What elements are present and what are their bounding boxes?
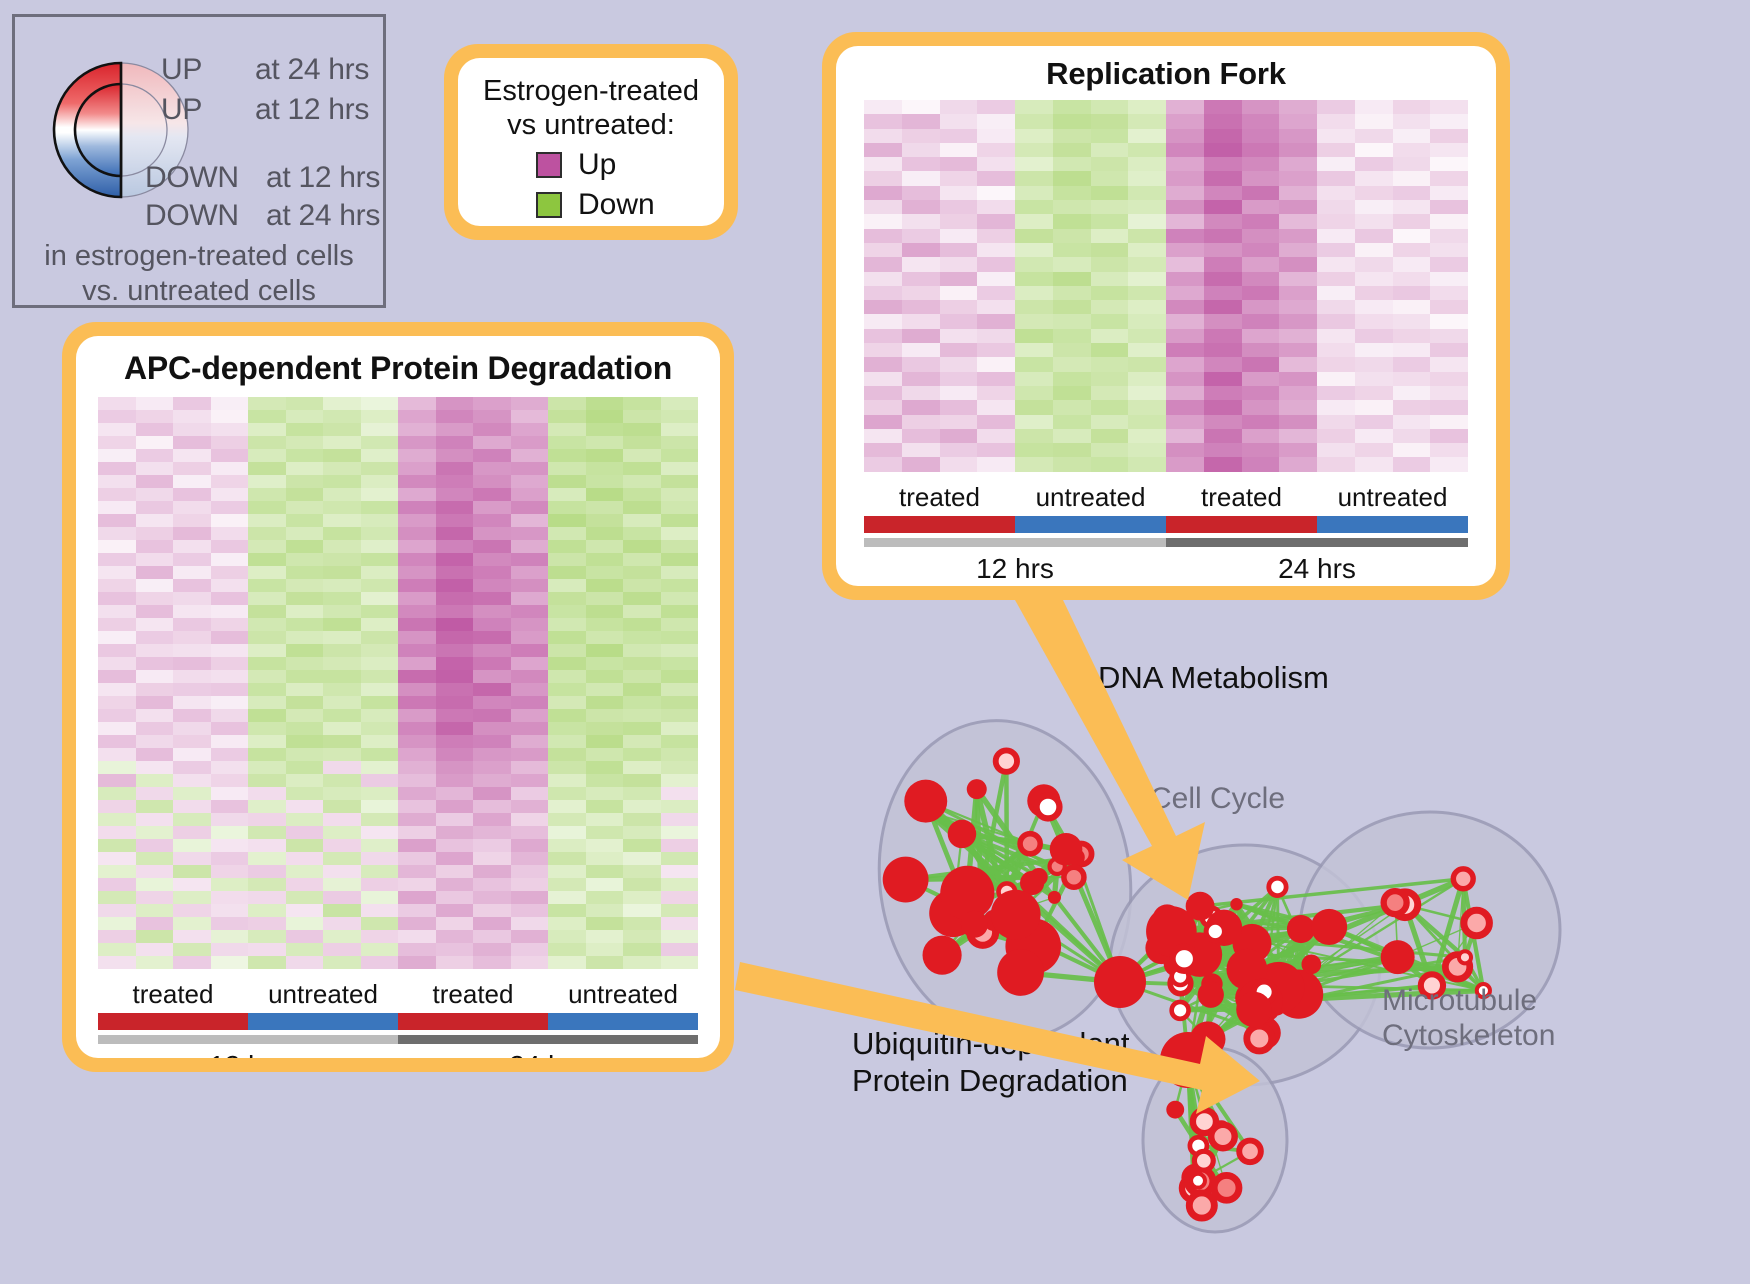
heatmap-cell [248, 436, 286, 449]
heatmap-cell [1128, 214, 1166, 228]
heatmap-row [98, 644, 698, 657]
heatmap-cell [286, 592, 324, 605]
heatmap-cell [361, 891, 399, 904]
heatmap-cell [98, 709, 136, 722]
network-node [1213, 1078, 1227, 1092]
heatmap-cell [902, 200, 940, 214]
heatmap-cell [586, 761, 624, 774]
heatmap-cell [1430, 257, 1468, 271]
heatmap-cell [211, 475, 249, 488]
heatmap-cell [1204, 286, 1242, 300]
network-node [923, 936, 962, 975]
heatmap-cell [1279, 286, 1317, 300]
network-node [1464, 910, 1490, 936]
heatmap-cell [1242, 429, 1280, 443]
heatmap-cell [436, 917, 474, 930]
network-node [1048, 891, 1061, 904]
heatmap-cell [98, 501, 136, 514]
heatmap-cell [1166, 114, 1204, 128]
heatmap-cell [1355, 429, 1393, 443]
heatmap-cell [1279, 357, 1317, 371]
heatmap-cell [398, 878, 436, 891]
heatmap-cell [548, 826, 586, 839]
heatmap-cell [173, 813, 211, 826]
key-down-12-label: DOWN [145, 161, 239, 195]
heatmap-cell [1242, 214, 1280, 228]
heatmap-cell [1128, 415, 1166, 429]
heatmap-cell [323, 579, 361, 592]
heatmap-cell [1166, 329, 1204, 343]
heatmap-cell [436, 410, 474, 423]
heatmap-row [864, 286, 1468, 300]
heatmap-cell [436, 813, 474, 826]
heatmap-cell [323, 917, 361, 930]
heatmap-cell [248, 722, 286, 735]
heatmap-cell [1204, 443, 1242, 457]
heatmap-cell [248, 527, 286, 540]
heatmap-cell [548, 956, 586, 969]
heatmap-cell [661, 865, 699, 878]
heatmap-cell [248, 501, 286, 514]
heatmap-cell [361, 501, 399, 514]
heatmap-cell [1393, 229, 1431, 243]
heatmap-cell [248, 410, 286, 423]
heatmap-cell [436, 579, 474, 592]
heatmap-cell [586, 449, 624, 462]
heatmap-cell [286, 475, 324, 488]
heatmap-row [98, 631, 698, 644]
heatmap-cell [286, 488, 324, 501]
timepoint-label: 24 hrs [1166, 553, 1468, 585]
heatmap-cell [661, 826, 699, 839]
heatmap-cell [1430, 214, 1468, 228]
heatmap-cell [1430, 372, 1468, 386]
heatmap-cell [136, 696, 174, 709]
heatmap-cell [1204, 272, 1242, 286]
heatmap-cell [473, 748, 511, 761]
heatmap-cell [548, 943, 586, 956]
heatmap-cell [1317, 272, 1355, 286]
heatmap-cell [361, 930, 399, 943]
heatmap-cell [323, 761, 361, 774]
heatmap-cell [548, 735, 586, 748]
heatmap-cell [1430, 457, 1468, 471]
heatmap-cell [1279, 171, 1317, 185]
heatmap-cell [1204, 243, 1242, 257]
heatmap-cell [473, 592, 511, 605]
condition-bar-segment [398, 1013, 548, 1030]
heatmap-cell [323, 397, 361, 410]
heatmap-cell [473, 501, 511, 514]
heatmap-cell [1242, 443, 1280, 457]
replication-fork-heatmap [864, 100, 1468, 472]
heatmap-cell [1091, 129, 1129, 143]
heatmap-cell [361, 514, 399, 527]
heatmap-cell [623, 891, 661, 904]
heatmap-cell [323, 566, 361, 579]
heatmap-cell [323, 683, 361, 696]
heatmap-cell [1242, 314, 1280, 328]
heatmap-cell [398, 800, 436, 813]
heatmap-cell [1317, 415, 1355, 429]
heatmap-cell [623, 514, 661, 527]
heatmap-cell [511, 618, 549, 631]
heatmap-cell [511, 501, 549, 514]
heatmap-cell [1091, 372, 1129, 386]
heatmap-cell [902, 314, 940, 328]
heatmap-cell [361, 644, 399, 657]
heatmap-cell [98, 839, 136, 852]
heatmap-cell [661, 722, 699, 735]
heatmap-cell [211, 943, 249, 956]
heatmap-cell [586, 566, 624, 579]
heatmap-cell [511, 488, 549, 501]
heatmap-cell [940, 171, 978, 185]
heatmap-cell [511, 774, 549, 787]
heatmap-cell [902, 386, 940, 400]
heatmap-cell [361, 800, 399, 813]
heatmap-cell [473, 605, 511, 618]
heatmap-cell [286, 878, 324, 891]
heatmap-cell [1166, 343, 1204, 357]
heatmap-cell [436, 761, 474, 774]
heatmap-row [98, 670, 698, 683]
heatmap-cell [398, 930, 436, 943]
heatmap-cell [902, 257, 940, 271]
condition-bar-segment [248, 1013, 398, 1030]
heatmap-cell [98, 410, 136, 423]
heatmap-cell [623, 462, 661, 475]
heatmap-row [98, 397, 698, 410]
heatmap-cell [1204, 300, 1242, 314]
heatmap-cell [623, 735, 661, 748]
heatmap-cell [211, 436, 249, 449]
heatmap-cell [586, 644, 624, 657]
heatmap-cell [1091, 386, 1129, 400]
heatmap-cell [1279, 214, 1317, 228]
heatmap-cell [173, 670, 211, 683]
heatmap-cell [248, 930, 286, 943]
heatmap-cell [661, 891, 699, 904]
heatmap-cell [1166, 457, 1204, 471]
heatmap-cell [940, 257, 978, 271]
heatmap-cell [248, 644, 286, 657]
heatmap-cell [323, 839, 361, 852]
heatmap-cell [136, 462, 174, 475]
heatmap-cell [864, 286, 902, 300]
heatmap-cell [173, 904, 211, 917]
key-up-24-label: UP [161, 53, 202, 87]
heatmap-cell [1355, 129, 1393, 143]
condition-label: untreated [548, 979, 698, 1010]
heatmap-cell [623, 410, 661, 423]
heatmap-row [864, 415, 1468, 429]
heatmap-cell [211, 670, 249, 683]
heatmap-cell [173, 722, 211, 735]
heatmap-cell [661, 878, 699, 891]
heatmap-cell [1204, 186, 1242, 200]
heatmap-cell [1015, 157, 1053, 171]
heatmap-cell [586, 553, 624, 566]
heatmap-cell [548, 865, 586, 878]
heatmap-cell [661, 696, 699, 709]
heatmap-cell [1053, 229, 1091, 243]
heatmap-cell [623, 813, 661, 826]
heatmap-cell [902, 171, 940, 185]
heatmap-cell [248, 891, 286, 904]
heatmap-cell [1204, 314, 1242, 328]
heatmap-cell [136, 631, 174, 644]
heatmap-cell [1279, 100, 1317, 114]
heatmap-cell [1204, 143, 1242, 157]
heatmap-cell [173, 683, 211, 696]
network-node [1020, 834, 1040, 854]
heatmap-cell [1317, 457, 1355, 471]
heatmap-cell [623, 852, 661, 865]
heatmap-cell [1355, 200, 1393, 214]
heatmap-cell [511, 436, 549, 449]
heatmap-cell [1430, 100, 1468, 114]
heatmap-cell [398, 709, 436, 722]
heatmap-cell [1242, 171, 1280, 185]
timepoint-bar-segment [1166, 538, 1468, 547]
heatmap-cell [623, 449, 661, 462]
heatmap-cell [436, 488, 474, 501]
heatmap-cell [864, 100, 902, 114]
heatmap-cell [248, 839, 286, 852]
heatmap-cell [98, 475, 136, 488]
heatmap-cell [511, 410, 549, 423]
heatmap-cell [211, 644, 249, 657]
heatmap-cell [511, 826, 549, 839]
heatmap-cell [511, 904, 549, 917]
heatmap-cell [586, 631, 624, 644]
heatmap-cell [511, 592, 549, 605]
heatmap-cell [548, 891, 586, 904]
heatmap-cell [864, 314, 902, 328]
heatmap-cell [248, 488, 286, 501]
heatmap-cell [98, 670, 136, 683]
heatmap-cell [248, 618, 286, 631]
heatmap-cell [661, 540, 699, 553]
heatmap-cell [98, 397, 136, 410]
heatmap-cell [511, 787, 549, 800]
heatmap-cell [1053, 243, 1091, 257]
heatmap-row [864, 186, 1468, 200]
heatmap-cell [248, 735, 286, 748]
condition-labels: treateduntreatedtreateduntreated [864, 482, 1468, 513]
heatmap-cell [1279, 386, 1317, 400]
heatmap-row [864, 429, 1468, 443]
heatmap-cell [940, 214, 978, 228]
heatmap-cell [1355, 243, 1393, 257]
heatmap-cell [623, 826, 661, 839]
heatmap-cell [1393, 129, 1431, 143]
heatmap-cell [623, 865, 661, 878]
heatmap-cell [136, 930, 174, 943]
heatmap-cell [248, 397, 286, 410]
heatmap-cell [436, 735, 474, 748]
figure-canvas: UP at 24 hrs UP at 12 hrs DOWN at 12 hrs… [0, 0, 1750, 1279]
heatmap-cell [473, 852, 511, 865]
heatmap-cell [864, 114, 902, 128]
heatmap-cell [623, 423, 661, 436]
heatmap-cell [248, 956, 286, 969]
heatmap-row [864, 329, 1468, 343]
heatmap-cell [586, 592, 624, 605]
heatmap-cell [977, 314, 1015, 328]
heatmap-cell [864, 357, 902, 371]
network-node [1211, 1125, 1234, 1148]
timepoint-labels: 12 hrs24 hrs [98, 1050, 698, 1058]
heatmap-cell [548, 592, 586, 605]
heatmap-cell [361, 605, 399, 618]
heatmap-cell [323, 852, 361, 865]
heatmap-cell [211, 683, 249, 696]
heatmap-cell [398, 527, 436, 540]
heatmap-cell [940, 314, 978, 328]
heatmap-cell [940, 343, 978, 357]
heatmap-cell [1053, 415, 1091, 429]
heatmap-cell [511, 657, 549, 670]
heatmap-cell [1279, 343, 1317, 357]
heatmap-row [864, 386, 1468, 400]
heatmap-cell [1279, 457, 1317, 471]
heatmap-cell [473, 904, 511, 917]
heatmap-cell [1128, 200, 1166, 214]
heatmap-cell [436, 657, 474, 670]
heatmap-cell [548, 722, 586, 735]
heatmap-cell [98, 553, 136, 566]
heatmap-cell [211, 917, 249, 930]
heatmap-cell [902, 457, 940, 471]
heatmap-cell [361, 618, 399, 631]
heatmap-cell [98, 527, 136, 540]
heatmap-cell [864, 457, 902, 471]
heatmap-row [98, 514, 698, 527]
heatmap-cell [1242, 329, 1280, 343]
heatmap-cell [1166, 314, 1204, 328]
heatmap-cell [286, 930, 324, 943]
heatmap-cell [1430, 443, 1468, 457]
heatmap-cell [548, 709, 586, 722]
heatmap-cell [173, 891, 211, 904]
heatmap-cell [1091, 171, 1129, 185]
heatmap-cell [864, 300, 902, 314]
heatmap-cell [1204, 129, 1242, 143]
heatmap-cell [511, 800, 549, 813]
heatmap-cell [173, 774, 211, 787]
heatmap-cell [661, 423, 699, 436]
network-node [883, 857, 929, 903]
heatmap-cell [1204, 100, 1242, 114]
heatmap-cell [902, 243, 940, 257]
heatmap-cell [1128, 343, 1166, 357]
heatmap-cell [661, 475, 699, 488]
heatmap-cell [661, 761, 699, 774]
heatmap-cell [1166, 443, 1204, 457]
heatmap-cell [473, 722, 511, 735]
heatmap-cell [1204, 257, 1242, 271]
heatmap-cell [1128, 171, 1166, 185]
heatmap-cell [940, 386, 978, 400]
heatmap-cell [1015, 400, 1053, 414]
heatmap-cell [1128, 143, 1166, 157]
heatmap-cell [661, 709, 699, 722]
heatmap-cell [623, 657, 661, 670]
heatmap-cell [1317, 214, 1355, 228]
heatmap-cell [1204, 214, 1242, 228]
heatmap-cell [248, 670, 286, 683]
heatmap-cell [511, 761, 549, 774]
heatmap-cell [211, 761, 249, 774]
heatmap-cell [1015, 314, 1053, 328]
heatmap-cell [361, 904, 399, 917]
heatmap-cell [586, 930, 624, 943]
heatmap-cell [323, 735, 361, 748]
heatmap-cell [436, 748, 474, 761]
heatmap-cell [436, 878, 474, 891]
heatmap-cell [98, 956, 136, 969]
heatmap-cell [1317, 357, 1355, 371]
heatmap-cell [548, 748, 586, 761]
heatmap-row [98, 748, 698, 761]
heatmap-cell [1430, 143, 1468, 157]
heatmap-cell [286, 904, 324, 917]
heatmap-cell [1430, 400, 1468, 414]
heatmap-cell [548, 566, 586, 579]
heatmap-cell [902, 157, 940, 171]
replication-fork-panel: Replication Fork treateduntreatedtreated… [822, 32, 1510, 600]
heatmap-cell [1355, 186, 1393, 200]
heatmap-cell [323, 631, 361, 644]
heatmap-cell [286, 709, 324, 722]
heatmap-cell [286, 657, 324, 670]
heatmap-cell [398, 722, 436, 735]
heatmap-cell [548, 683, 586, 696]
heatmap-cell [661, 553, 699, 566]
heatmap-cell [211, 488, 249, 501]
heatmap-cell [548, 696, 586, 709]
heatmap-row [98, 410, 698, 423]
heatmap-cell [361, 917, 399, 930]
heatmap-cell [1430, 386, 1468, 400]
heatmap-row [864, 400, 1468, 414]
network-node [991, 890, 1041, 940]
heatmap-cell [1091, 429, 1129, 443]
heatmap-cell [1091, 286, 1129, 300]
heatmap-cell [1317, 286, 1355, 300]
heatmap-cell [286, 631, 324, 644]
heatmap-cell [1355, 171, 1393, 185]
heatmap-cell [1166, 300, 1204, 314]
heatmap-cell [1128, 243, 1166, 257]
heatmap-cell [1279, 200, 1317, 214]
heatmap-cell [248, 696, 286, 709]
heatmap-cell [286, 813, 324, 826]
heatmap-cell [173, 462, 211, 475]
heatmap-cell [173, 761, 211, 774]
heatmap-cell [1279, 314, 1317, 328]
heatmap-cell [864, 343, 902, 357]
heatmap-cell [1242, 357, 1280, 371]
heatmap-cell [1015, 286, 1053, 300]
heatmap-cell [1091, 300, 1129, 314]
heatmap-cell [361, 839, 399, 852]
heatmap-cell [398, 826, 436, 839]
heatmap-cell [398, 761, 436, 774]
heatmap-cell [940, 129, 978, 143]
